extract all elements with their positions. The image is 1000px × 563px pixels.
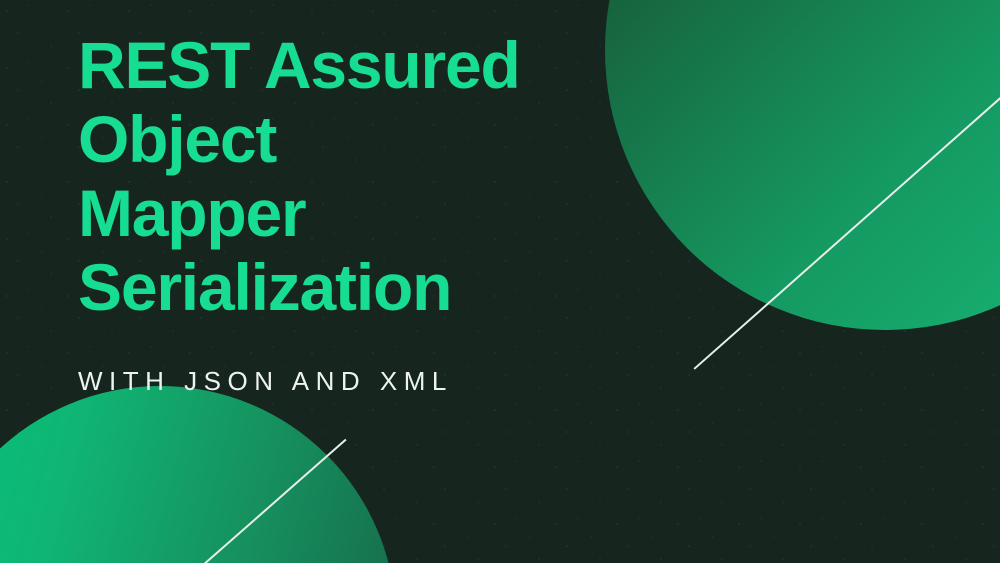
decorative-circle-top-right (605, 0, 1000, 330)
slide-title: REST Assured Object Mapper Serialization (78, 28, 520, 324)
title-text-block: REST Assured Object Mapper Serialization… (78, 28, 520, 397)
slide-canvas: REST Assured Object Mapper Serialization… (0, 0, 1000, 563)
decorative-circle-bottom-left (0, 386, 396, 563)
slide-subtitle: WITH JSON AND XML (78, 324, 520, 397)
